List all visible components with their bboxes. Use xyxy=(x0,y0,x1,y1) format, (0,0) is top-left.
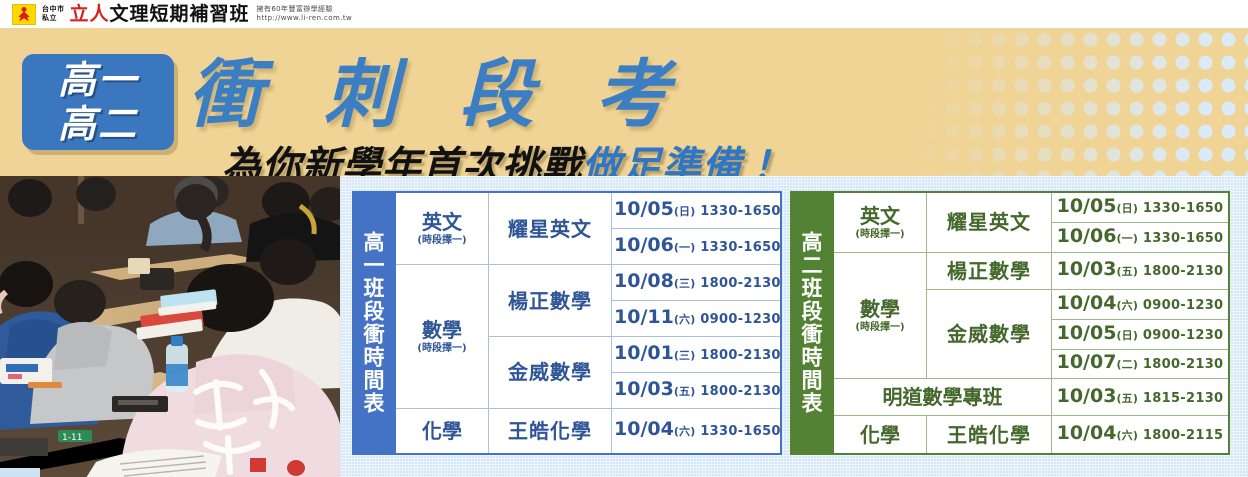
grade-badge: 高一 高二 xyxy=(22,54,174,150)
subject-cell: 化學 xyxy=(395,408,489,454)
date-text: 10/03 xyxy=(1057,385,1117,407)
date-text: 10/07 xyxy=(1057,351,1117,373)
table-row: 數學(時段擇一)楊正數學10/08(三) 1800-2130 xyxy=(395,265,781,301)
classroom-photo: 1-11 xyxy=(0,176,340,477)
banner-subtitle-blue: 做足準備！ xyxy=(582,144,782,176)
subject-name: 數學 xyxy=(422,318,462,342)
datetime-cell: 10/03(五) 1815-2130 xyxy=(1052,379,1230,416)
date-text: 10/04 xyxy=(1057,422,1117,444)
datetime-cell: 10/03(五) 1800-2130 xyxy=(1052,252,1230,289)
teacher-cell: 楊正數學 xyxy=(489,265,612,337)
time-range-text: 0900-1230 xyxy=(1138,328,1223,343)
schedule-grid-grade1: 英文(時段擇一)耀星英文10/05(日) 1330-165010/06(一) 1… xyxy=(394,191,782,455)
grade-badge-line2: 高二 xyxy=(58,103,138,145)
date-text: 10/03 xyxy=(1057,258,1117,280)
time-range-text: 1330-1650 xyxy=(695,424,780,439)
subject-name: 化學 xyxy=(422,419,462,443)
brand-url: http://www.li-ren.com.tw xyxy=(257,14,353,23)
weekday-text: (六) xyxy=(1116,429,1138,442)
date-text: 10/01 xyxy=(614,342,674,364)
teacher-cell: 金威數學 xyxy=(489,336,612,408)
weekday-text: (五) xyxy=(674,385,696,398)
weekday-text: (三) xyxy=(674,277,696,290)
promo-banner: 高一 高二 衝 刺 段 考 為你新學年首次挑戰做足準備！ xyxy=(0,28,1248,176)
svg-text:1-11: 1-11 xyxy=(62,433,82,443)
datetime-cell: 10/03(五) 1800-2130 xyxy=(612,372,782,408)
weekday-text: (三) xyxy=(674,349,696,362)
subject-note: (時段擇一) xyxy=(398,234,486,247)
time-range-text: 1815-2130 xyxy=(1138,391,1223,406)
subject-cell: 明道數學專班 xyxy=(833,379,1052,416)
date-text: 10/03 xyxy=(614,378,674,400)
date-text: 10/06 xyxy=(1057,225,1117,247)
brand-city-line2: 私立 xyxy=(42,14,65,23)
schedule-side-title-grade2: 高二班段衝時間表 xyxy=(790,191,832,455)
datetime-cell: 10/06(一) 1330-1650 xyxy=(1052,223,1230,253)
datetime-cell: 10/04(六) 0900-1230 xyxy=(1052,289,1230,319)
time-range-text: 1330-1650 xyxy=(695,204,780,219)
datetime-cell: 10/11(六) 0900-1230 xyxy=(612,301,782,337)
date-text: 10/05 xyxy=(614,198,674,220)
time-range-text: 1330-1650 xyxy=(1138,201,1223,216)
subject-note: (時段擇一) xyxy=(836,321,924,334)
brand-city: 台中市 私立 xyxy=(42,5,65,23)
time-range-text: 1330-1650 xyxy=(695,240,780,255)
time-range-text: 1800-2130 xyxy=(695,348,780,363)
subject-name: 數學 xyxy=(860,297,900,321)
table-row: 數學(時段擇一)楊正數學10/03(五) 1800-2130 xyxy=(833,252,1229,289)
subject-name: 英文 xyxy=(422,210,462,234)
teacher-cell: 王皓化學 xyxy=(927,416,1052,454)
weekday-text: (日) xyxy=(1116,202,1138,215)
brand-name-red: 立人 xyxy=(70,5,110,24)
time-range-text: 1800-2130 xyxy=(1138,264,1223,279)
teacher-cell: 楊正數學 xyxy=(927,252,1052,289)
weekday-text: (日) xyxy=(1116,329,1138,342)
schedule-table-grade1: 高一班段衝時間表 英文(時段擇一)耀星英文10/05(日) 1330-16501… xyxy=(352,191,782,455)
teacher-cell: 耀星英文 xyxy=(489,192,612,265)
halftone-dots-decoration xyxy=(918,28,1248,176)
subject-note: (時段擇一) xyxy=(836,228,924,241)
subject-cell: 英文(時段擇一) xyxy=(395,192,489,265)
time-range-text: 1800-2130 xyxy=(1138,357,1223,372)
brand-logo[interactable]: 台中市 私立 立人 文理短期補習班 擁有60年豐富辦學經驗 http://www… xyxy=(0,4,352,25)
time-range-text: 0900-1230 xyxy=(1138,298,1223,313)
banner-subtitle-black: 為你新學年首次挑戰 xyxy=(222,144,582,176)
datetime-cell: 10/04(六) 1800-2115 xyxy=(1052,416,1230,454)
teacher-cell: 王皓化學 xyxy=(489,408,612,454)
datetime-cell: 10/07(二) 1800-2130 xyxy=(1052,349,1230,379)
subject-name: 明道數學專班 xyxy=(883,385,1003,409)
table-row: 化學王皓化學10/04(六) 1800-2115 xyxy=(833,416,1229,454)
date-text: 10/06 xyxy=(614,234,674,256)
brand-city-line1: 台中市 xyxy=(42,5,65,14)
brand-tagline-text: 擁有60年豐富辦學經驗 xyxy=(257,5,353,14)
subject-name: 英文 xyxy=(860,204,900,228)
schedule-grid-grade2: 英文(時段擇一)耀星英文10/05(日) 1330-165010/06(一) 1… xyxy=(832,191,1230,455)
weekday-text: (六) xyxy=(674,313,696,326)
schedule-body-grade2: 英文(時段擇一)耀星英文10/05(日) 1330-165010/06(一) 1… xyxy=(833,192,1229,454)
weekday-text: (日) xyxy=(674,205,696,218)
datetime-cell: 10/04(六) 1330-1650 xyxy=(612,408,782,454)
weekday-text: (二) xyxy=(1116,358,1138,371)
date-text: 10/04 xyxy=(1057,292,1117,314)
date-text: 10/08 xyxy=(614,270,674,292)
datetime-cell: 10/08(三) 1800-2130 xyxy=(612,265,782,301)
table-row: 英文(時段擇一)耀星英文10/05(日) 1330-1650 xyxy=(833,192,1229,223)
banner-subtitle: 為你新學年首次挑戰做足準備！ xyxy=(222,144,782,176)
date-text: 10/05 xyxy=(1057,195,1117,217)
weekday-text: (一) xyxy=(674,241,696,254)
promo-flyer: 台中市 私立 立人 文理短期補習班 擁有60年豐富辦學經驗 http://www… xyxy=(0,0,1248,477)
grade-badge-line1: 高一 xyxy=(58,59,138,101)
subject-name: 化學 xyxy=(860,423,900,447)
datetime-cell: 10/05(日) 0900-1230 xyxy=(1052,319,1230,349)
table-row: 化學王皓化學10/04(六) 1330-1650 xyxy=(395,408,781,454)
time-range-text: 1800-2130 xyxy=(695,276,780,291)
weekday-text: (六) xyxy=(1116,299,1138,312)
schedule-side-title-grade1: 高一班段衝時間表 xyxy=(352,191,394,455)
weekday-text: (五) xyxy=(1116,392,1138,405)
weekday-text: (五) xyxy=(1116,265,1138,278)
brand-name-black: 文理短期補習班 xyxy=(110,5,250,24)
subject-cell: 數學(時段擇一) xyxy=(395,265,489,409)
datetime-cell: 10/05(日) 1330-1650 xyxy=(612,192,782,229)
time-range-text: 1800-2130 xyxy=(695,384,780,399)
datetime-cell: 10/01(三) 1800-2130 xyxy=(612,336,782,372)
schedule-table-grade2: 高二班段衝時間表 英文(時段擇一)耀星英文10/05(日) 1330-16501… xyxy=(790,191,1230,455)
datetime-cell: 10/06(一) 1330-1650 xyxy=(612,229,782,265)
time-range-text: 1800-2115 xyxy=(1138,428,1223,443)
subject-note: (時段擇一) xyxy=(398,342,486,355)
time-range-text: 1330-1650 xyxy=(1138,231,1223,246)
date-text: 10/11 xyxy=(614,306,674,328)
subject-cell: 數學(時段擇一) xyxy=(833,252,927,379)
time-range-text: 0900-1230 xyxy=(695,312,780,327)
table-row: 明道數學專班10/03(五) 1815-2130 xyxy=(833,379,1229,416)
schedule-body-grade1: 英文(時段擇一)耀星英文10/05(日) 1330-165010/06(一) 1… xyxy=(395,192,781,454)
site-logo-bar: 台中市 私立 立人 文理短期補習班 擁有60年豐富辦學經驗 http://www… xyxy=(0,0,1248,29)
weekday-text: (一) xyxy=(1116,232,1138,245)
banner-headline: 衝 刺 段 考 xyxy=(188,54,687,136)
brand-tagline: 擁有60年豐富辦學經驗 http://www.li-ren.com.tw xyxy=(257,5,353,23)
teacher-cell: 耀星英文 xyxy=(927,192,1052,252)
person-mark-icon xyxy=(12,4,36,25)
subject-cell: 英文(時段擇一) xyxy=(833,192,927,252)
subject-cell: 化學 xyxy=(833,416,927,454)
date-text: 10/05 xyxy=(1057,322,1117,344)
table-row: 英文(時段擇一)耀星英文10/05(日) 1330-1650 xyxy=(395,192,781,229)
datetime-cell: 10/05(日) 1330-1650 xyxy=(1052,192,1230,223)
teacher-cell: 金威數學 xyxy=(927,289,1052,378)
date-text: 10/04 xyxy=(614,418,674,440)
weekday-text: (六) xyxy=(674,425,696,438)
